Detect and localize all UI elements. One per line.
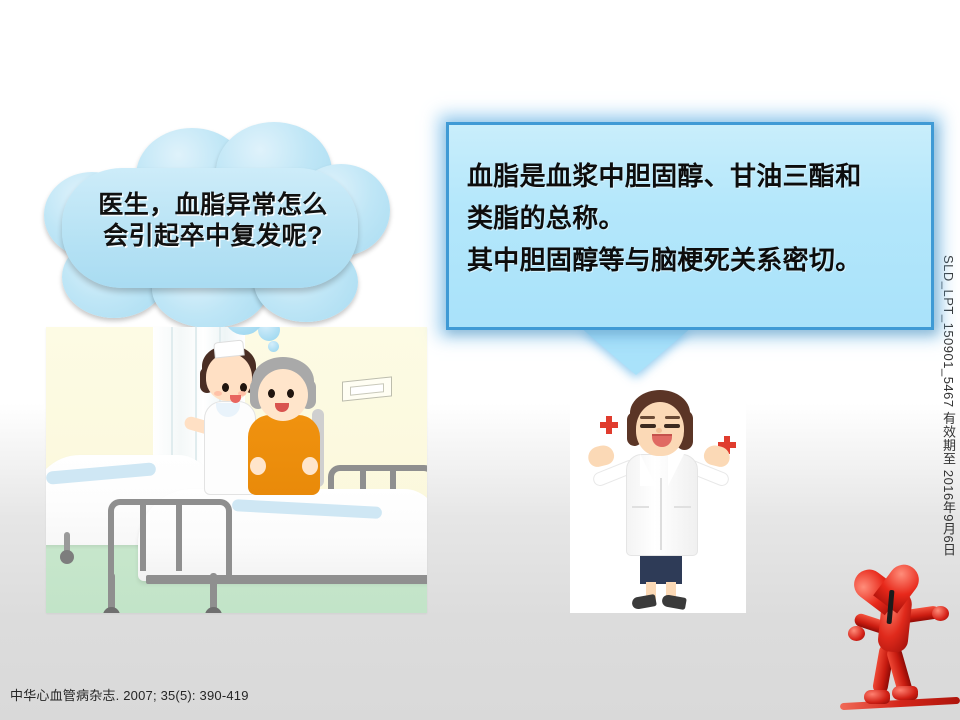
doctor-shoe-left xyxy=(631,594,657,610)
sidebar-approval-code: SLD_LPT_150901_5467 有效期至 2016年9月6日 xyxy=(939,255,958,557)
mascot-foot-right xyxy=(892,686,918,700)
patient-eye-right xyxy=(287,389,294,398)
doctor-nose xyxy=(656,428,662,433)
patient-question-bubble: 医生，血脂异常怎么 会引起卒中复发呢? xyxy=(40,128,380,328)
nurse-eye-left xyxy=(222,383,229,392)
smiling-doctor-illustration xyxy=(570,388,746,613)
hospital-bed-rail-main xyxy=(108,499,232,583)
speech-line-2: 类脂的总称。 xyxy=(467,197,923,239)
doctor-coat-pocket-left xyxy=(632,506,649,508)
patient-hand-left xyxy=(250,457,266,475)
doctor-coat-pocket-right xyxy=(674,506,691,508)
doctor-coat-seam xyxy=(660,478,662,550)
slide-canvas: 医生，血脂异常怎么 会引起卒中复发呢? 血脂是血浆中胆固醇、甘油三酯和 类脂的总… xyxy=(0,0,960,720)
nurse-cap-icon xyxy=(213,339,245,358)
red-cross-icon-left xyxy=(600,416,618,434)
patient-head xyxy=(258,369,308,421)
speech-line-1: 血脂是血浆中胆固醇、甘油三酯和 xyxy=(467,155,923,197)
doctor-hand-left xyxy=(586,443,616,469)
doctor-coat-lapel-left xyxy=(640,454,656,486)
doctor-eye-right xyxy=(664,424,680,428)
bed-back-leg xyxy=(64,532,70,554)
doctor-white-coat xyxy=(626,454,698,556)
red-heart-mascot xyxy=(848,540,960,720)
doctor-eyebrow-right xyxy=(665,416,680,419)
elderly-patient-figure xyxy=(246,357,322,497)
bed-rail-leg-left xyxy=(108,573,115,613)
speech-box-text: 血脂是血浆中胆固醇、甘油三酯和 类脂的总称。 其中胆固醇等与脑梗死关系密切。 xyxy=(467,155,923,281)
footer-citation: 中华心血管病杂志. 2007; 35(5): 390-419 xyxy=(10,685,249,704)
mascot-hand-left xyxy=(848,626,865,641)
doctor-eyebrow-left xyxy=(640,416,655,419)
doctor-shoe-right xyxy=(661,594,687,610)
speech-box-tail xyxy=(580,327,692,375)
hospital-bedside-illustration xyxy=(46,327,427,613)
speech-line-3: 其中胆固醇等与脑梗死关系密切。 xyxy=(467,239,923,281)
nurse-cheek-left xyxy=(214,391,222,396)
patient-eye-left xyxy=(268,389,275,398)
mascot-hand-right xyxy=(932,606,949,621)
bubble-text: 医生，血脂异常怎么 会引起卒中复发呢? xyxy=(68,190,358,251)
mascot-foot-left xyxy=(864,690,890,704)
bubble-text-line-2: 会引起卒中复发呢? xyxy=(68,221,358,252)
patient-sweater xyxy=(248,415,320,495)
mascot-heart-head-icon xyxy=(867,543,925,600)
patient-hand-right xyxy=(302,457,318,475)
thought-mini-bubble-small xyxy=(268,341,279,352)
doctor-eye-left xyxy=(640,424,656,428)
doctor-coat-lapel-right xyxy=(668,454,684,486)
bed-rail-leg-right xyxy=(210,573,217,613)
doctor-answer-box: 血脂是血浆中胆固醇、甘油三酯和 类脂的总称。 其中胆固醇等与脑梗死关系密切。 xyxy=(446,122,934,330)
patient-mouth xyxy=(275,403,289,412)
bubble-text-line-1: 医生，血脂异常怎么 xyxy=(68,190,358,221)
